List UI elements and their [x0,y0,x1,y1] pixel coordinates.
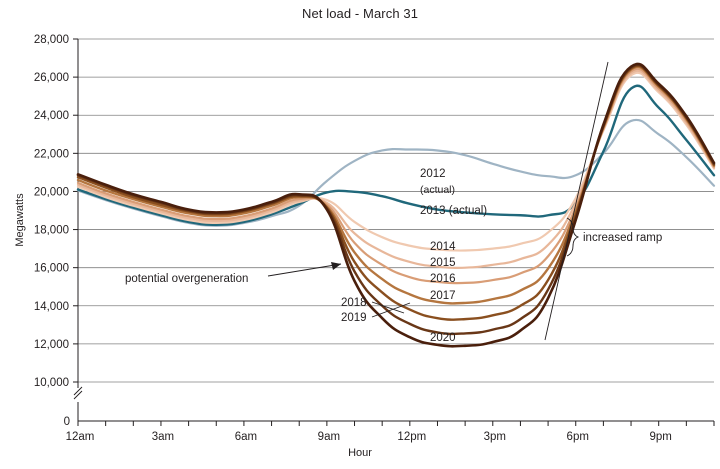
y-tick-label: 18,000 [34,225,69,237]
annotation-label-2013-actual: 2013 (actual) [420,205,487,217]
series-line-2013-actual [78,86,714,225]
ramp-diagonal-line [545,62,608,340]
x-axis-ticks: 12am3am6am9am12pm3pm6pm9pm [66,421,714,443]
increased-ramp-annotation [545,62,608,340]
x-tick-label: 3am [152,431,174,443]
y-tick-label: 14,000 [34,301,69,313]
x-tick-label: 9pm [650,431,672,443]
y-tick-label: 22,000 [34,148,69,160]
annotation-label-2012-actual: (actual) [420,184,455,196]
y-tick-label: 28,000 [34,34,69,46]
y-tick-label: 20,000 [34,186,69,198]
series-lines [78,64,714,346]
overgeneration-arrow-head [331,262,341,270]
x-tick-label: 6pm [567,431,589,443]
chart-root: Net load - March 31 Megawatts Hour 10,00… [0,0,720,469]
annotation-label-2016: 2016 [430,273,456,285]
y-tick-label: 10,000 [34,377,69,389]
axis-break-icon [74,387,82,399]
plot-area: 10,00012,00014,00016,00018,00020,00022,0… [0,0,720,469]
annotation-label-2012: 2012 [420,168,446,180]
series-line-2014 [78,73,714,251]
x-tick-label: 3pm [484,431,506,443]
annotation-label-2015: 2015 [430,257,456,269]
x-tick-label: 6am [235,431,257,443]
overgeneration-annotation [268,262,341,276]
x-tick-label: 9am [318,431,340,443]
annotation-label-2020: 2020 [430,332,456,344]
x-tick-label: 12am [66,431,95,443]
x-tick-label: 12pm [397,431,426,443]
y-tick-zero: 0 [64,416,70,428]
y-tick-label: 26,000 [34,72,69,84]
annotation-label-2018: 2018 [341,297,367,309]
y-tick-label: 12,000 [34,339,69,351]
y-tick-label: 16,000 [34,263,69,275]
series-line-2016 [78,69,714,283]
y-tick-label: 24,000 [34,110,69,122]
y-axis-ticks: 10,00012,00014,00016,00018,00020,00022,0… [34,34,78,389]
annotation-label-2014: 2014 [430,241,456,253]
annotation-potential-overgeneration: potential overgeneration [125,273,248,285]
overgeneration-leader-line [268,264,341,276]
annotation-increased-ramp: increased ramp [583,232,662,244]
annotation-label-2019: 2019 [341,312,367,324]
annotation-label-2017: 2017 [430,290,456,302]
